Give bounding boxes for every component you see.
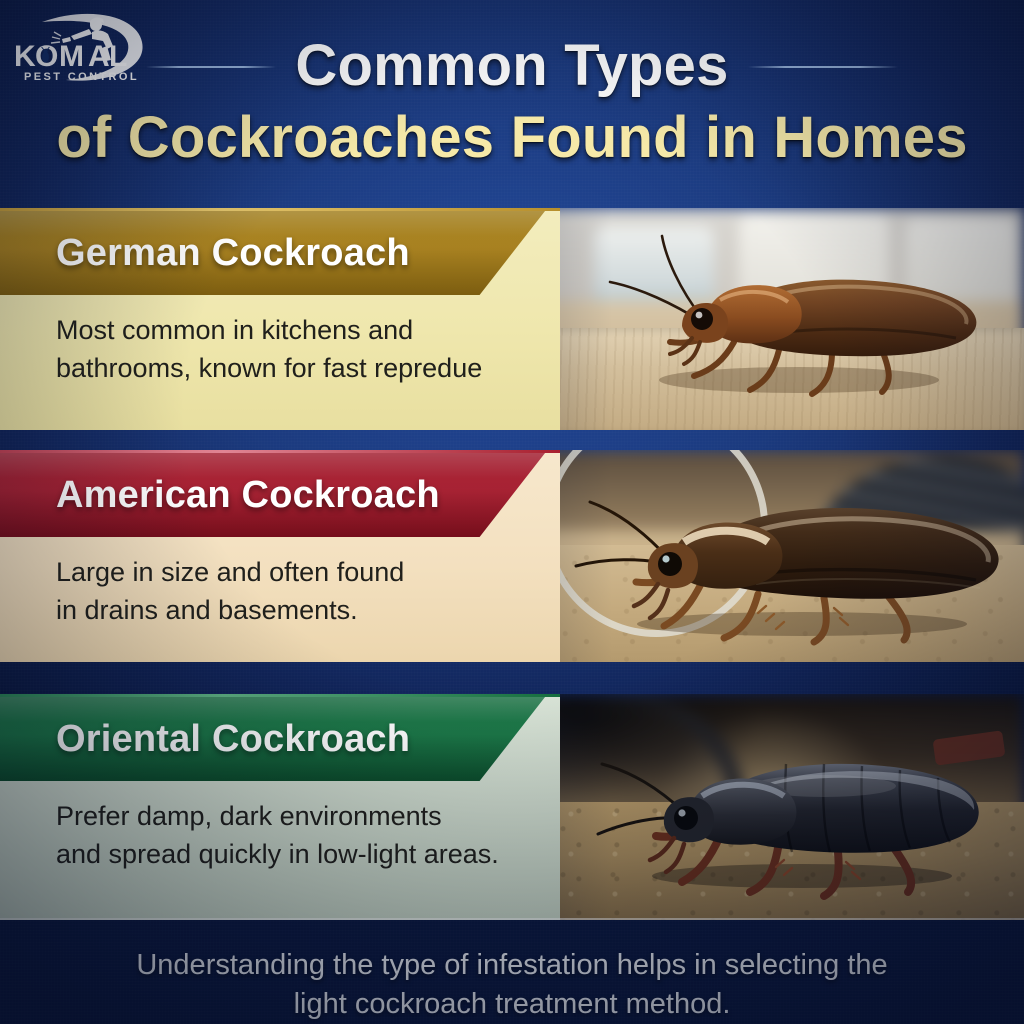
- oriental-cockroach-illustration: [572, 734, 1002, 904]
- desc-line-2: in drains and basements.: [56, 592, 526, 630]
- oriental-cockroach-description: Prefer damp, dark environments and sprea…: [56, 798, 526, 874]
- footer: Understanding the type of infestation he…: [0, 920, 1024, 1024]
- american-cockroach-photo: [534, 450, 1024, 662]
- infographic-poster: Common Types of Cockroaches Found in Hom…: [0, 0, 1024, 1024]
- desc-line-2: and spread quickly in low-light areas.: [56, 836, 526, 874]
- oriental-cockroach-photo: [534, 694, 1024, 920]
- desc-line-2: bathrooms, known for fast repredue: [56, 350, 526, 388]
- svg-text:L: L: [109, 40, 128, 73]
- footer-line-2: light cockroach treatment method.: [294, 988, 731, 1020]
- brand-logo: K O M A L PEST CONTROL: [8, 8, 168, 88]
- svg-text:A: A: [88, 40, 111, 73]
- card-top-accent: [0, 208, 560, 211]
- german-cockroach-title: German Cockroach: [0, 232, 410, 275]
- desc-line-1: Large in size and often found: [56, 557, 404, 587]
- card-top-accent: [0, 694, 560, 697]
- card-german-cockroach: German Cockroach Most common in kitchens…: [0, 208, 1024, 430]
- oriental-cockroach-title: Oriental Cockroach: [0, 718, 410, 761]
- card-oriental-cockroach: Oriental Cockroach Prefer damp, dark env…: [0, 694, 1024, 920]
- card-top-accent: [0, 450, 560, 453]
- german-cockroach-illustration: [574, 230, 994, 415]
- svg-text:M: M: [59, 40, 85, 73]
- card-american-cockroach: American Cockroach Large in size and oft…: [0, 450, 1024, 662]
- desc-line-1: Most common in kitchens and: [56, 315, 413, 345]
- footer-text: Understanding the type of infestation he…: [0, 946, 1024, 1024]
- svg-text:K: K: [14, 40, 37, 73]
- title-line-2: of Cockroaches Found in Homes: [0, 104, 1024, 171]
- oriental-cockroach-ribbon: Oriental Cockroach: [0, 697, 545, 781]
- svg-text:PEST CONTROL: PEST CONTROL: [24, 71, 139, 83]
- footer-line-1: Understanding the type of infestation he…: [136, 949, 887, 981]
- american-cockroach-illustration: [552, 478, 1022, 653]
- german-cockroach-photo: [534, 208, 1024, 430]
- header: Common Types of Cockroaches Found in Hom…: [0, 0, 1024, 208]
- german-cockroach-ribbon: German Cockroach: [0, 211, 545, 295]
- american-cockroach-title: American Cockroach: [0, 474, 440, 517]
- oriental-cockroach-text-panel: Oriental Cockroach Prefer damp, dark env…: [0, 694, 560, 920]
- american-cockroach-text-panel: American Cockroach Large in size and oft…: [0, 450, 560, 662]
- german-cockroach-text-panel: German Cockroach Most common in kitchens…: [0, 208, 560, 430]
- american-cockroach-description: Large in size and often found in drains …: [56, 554, 526, 630]
- german-cockroach-description: Most common in kitchens and bathrooms, k…: [56, 312, 526, 388]
- american-cockroach-ribbon: American Cockroach: [0, 453, 545, 537]
- desc-line-1: Prefer damp, dark environments: [56, 801, 442, 831]
